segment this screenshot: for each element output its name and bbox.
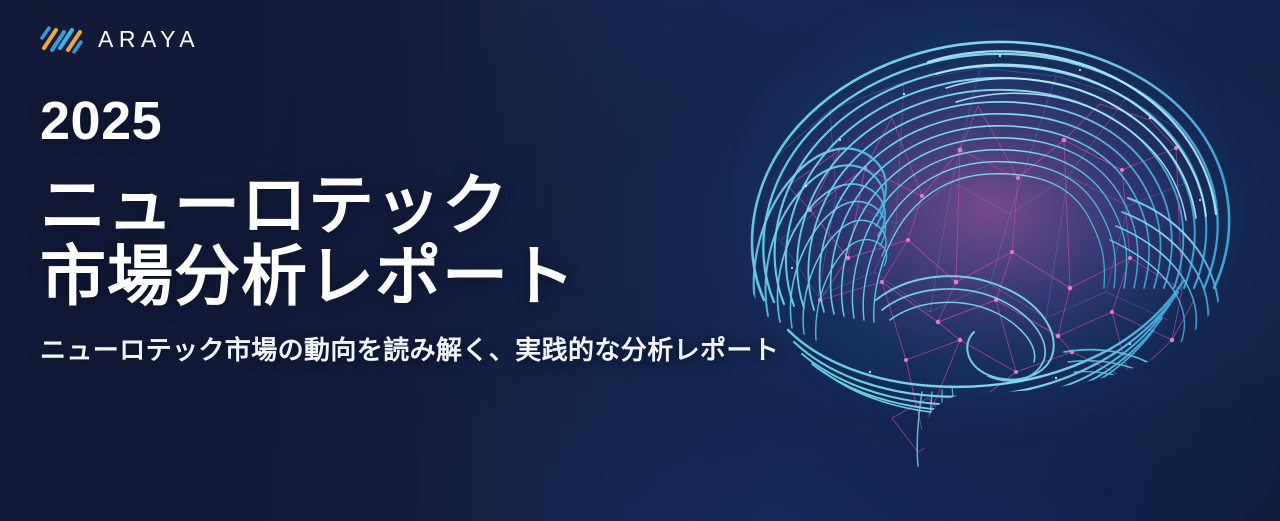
brain-glow bbox=[730, 10, 1250, 440]
report-year: 2025 bbox=[40, 94, 779, 148]
brain-secondary-mesh bbox=[772, 68, 1188, 320]
page-title: ニューロテック 市場分析レポート bbox=[40, 170, 779, 311]
page-title-line-1: ニューロテック bbox=[40, 170, 779, 241]
hero-content: ARAYA 2025 ニューロテック 市場分析レポート ニューロテック市場の動向… bbox=[40, 0, 779, 521]
brain-polygon-mesh bbox=[788, 104, 1194, 452]
hero-banner: ARAYA 2025 ニューロテック 市場分析レポート ニューロテック市場の動向… bbox=[0, 0, 1280, 521]
araya-stripes-logo-icon bbox=[40, 22, 84, 56]
brain-inner-glow bbox=[775, 65, 1205, 365]
brain-mesh-nodes bbox=[808, 138, 1178, 382]
brain-spark-nodes bbox=[791, 55, 1201, 403]
page-subtitle: ニューロテック市場の動向を読み解く、実践的な分析レポート bbox=[40, 335, 779, 366]
page-title-line-2: 市場分析レポート bbox=[40, 241, 779, 312]
brand-wordmark: ARAYA bbox=[98, 28, 200, 51]
brand-logo[interactable]: ARAYA bbox=[40, 0, 779, 56]
brain-fiber-tracts bbox=[752, 42, 1229, 468]
